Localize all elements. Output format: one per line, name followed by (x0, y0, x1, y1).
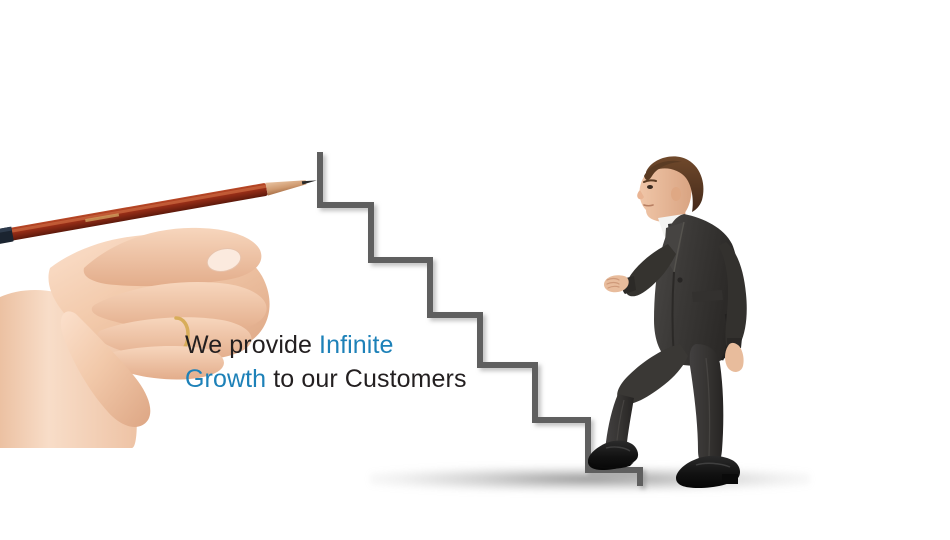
headline-highlight-growth: Growth (185, 365, 266, 393)
headline-line-1: We provide Infinite (185, 328, 485, 362)
headline-line2-suffix: to our Customers (266, 365, 466, 393)
pencil-wood-tip (266, 176, 308, 196)
front-leg-thigh (617, 344, 688, 404)
jacket-button (677, 277, 682, 282)
back-shoe-heel (722, 474, 738, 484)
headline-text: We provide Infinite Growth to our Custom… (185, 328, 485, 396)
pencil-highlight (10, 185, 267, 233)
eye (647, 185, 653, 189)
headline-highlight-infinite: Infinite (319, 331, 393, 359)
hand-illustration (0, 118, 318, 448)
ear (671, 187, 681, 201)
mouth (644, 205, 653, 206)
jacket-pocket-flap (692, 290, 723, 302)
banner-canvas: We provide Infinite Growth to our Custom… (0, 0, 950, 540)
businessman-figure (588, 144, 768, 492)
headline-line-2: Growth to our Customers (185, 362, 485, 396)
pencil-graphite-tip (302, 179, 317, 185)
businessman-illustration (588, 144, 768, 492)
headline-line1-prefix: We provide (185, 331, 319, 359)
hand-with-pencil (0, 118, 318, 448)
